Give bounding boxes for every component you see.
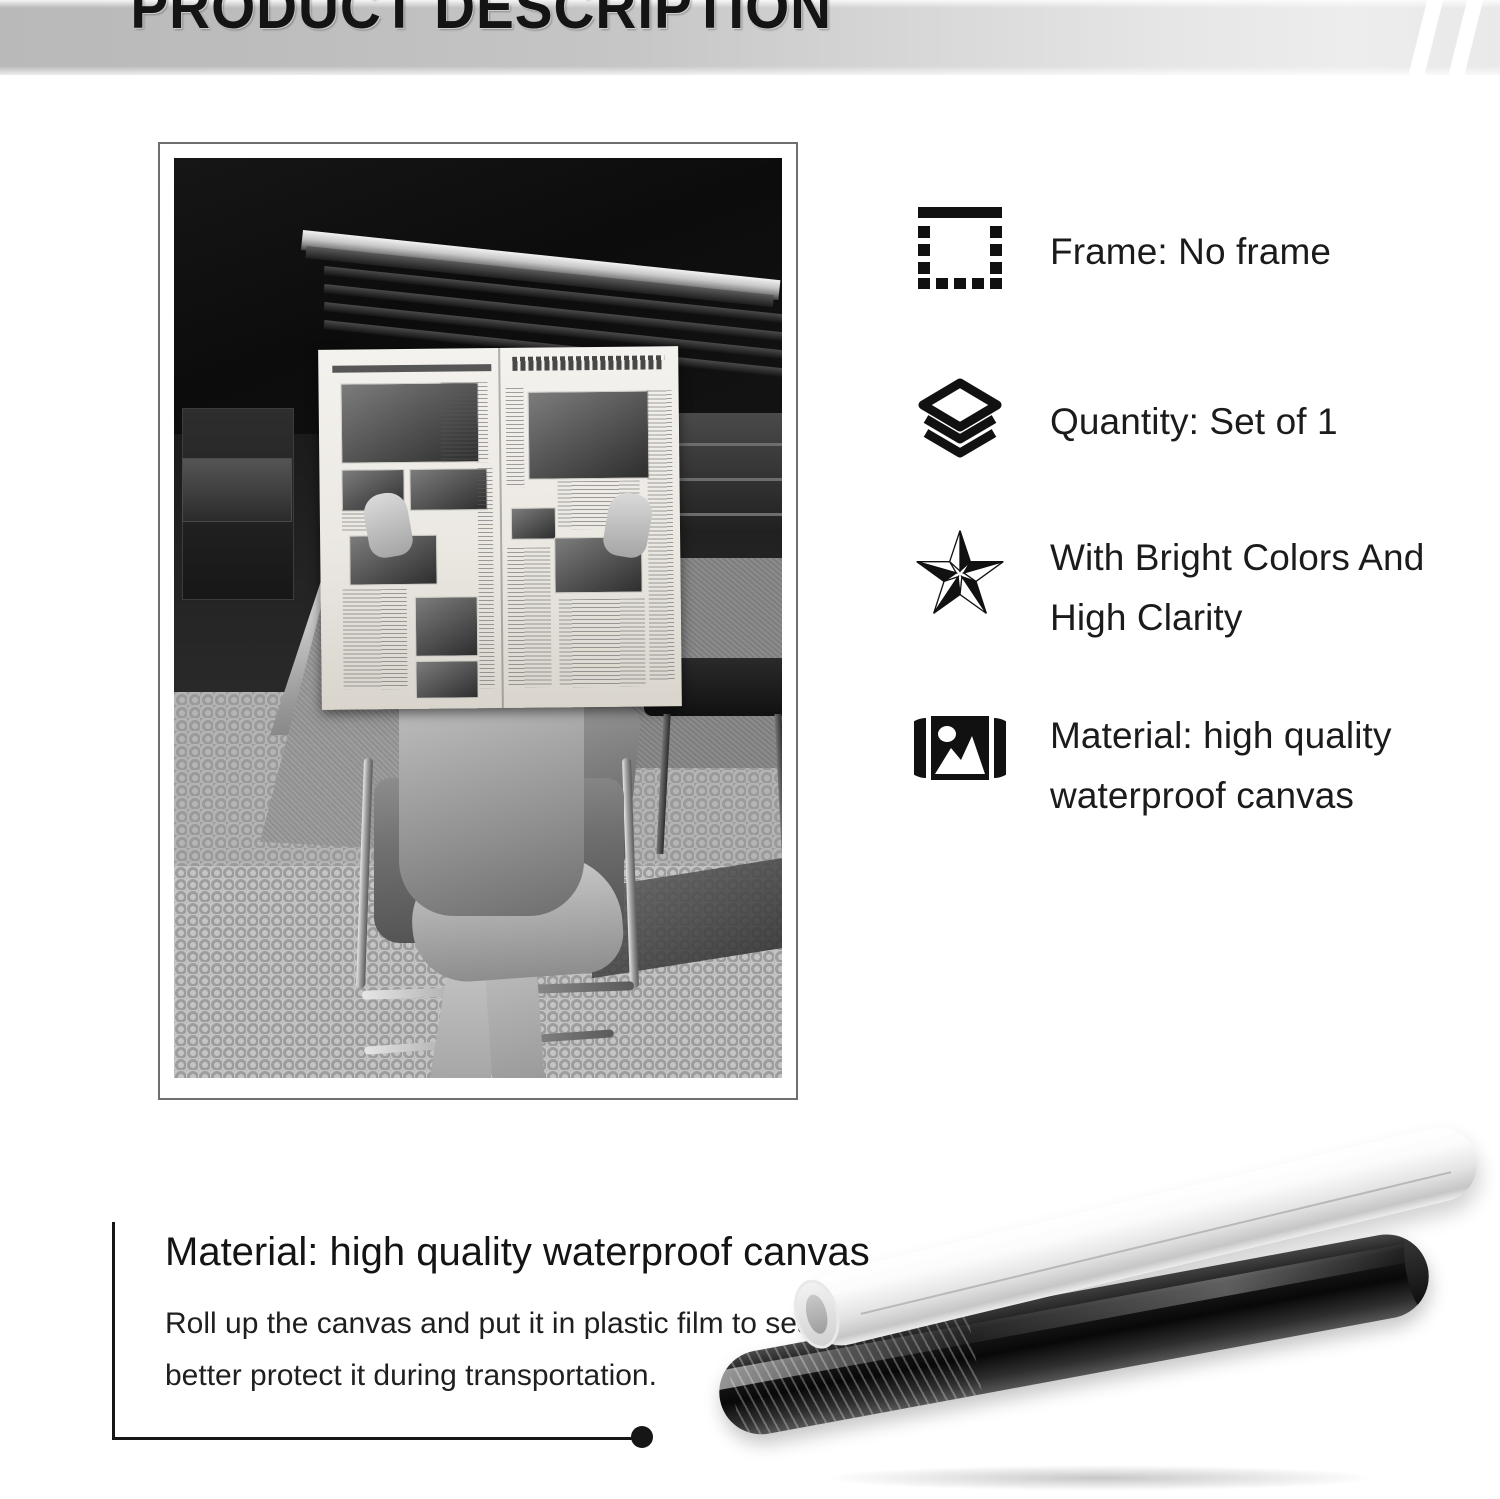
feature-item-quantity: Quantity: Set of 1 bbox=[912, 370, 1472, 466]
image-picture-icon bbox=[912, 700, 1008, 796]
newspaper-photo bbox=[409, 468, 487, 511]
roll-shadow bbox=[820, 1465, 1380, 1491]
newspaper-photo bbox=[414, 596, 478, 657]
newspaper-fold bbox=[498, 348, 504, 708]
header-banner: PRODUCT DESCRIPTION bbox=[0, 0, 1500, 75]
roll-end-cap bbox=[1399, 1227, 1436, 1314]
layers-stack-icon bbox=[912, 370, 1008, 466]
canvas-roll-illustration bbox=[700, 1240, 1500, 1499]
product-photo bbox=[174, 158, 782, 1078]
feature-label: With Bright Colors And High Clarity bbox=[1050, 524, 1472, 648]
product-image-frame bbox=[158, 142, 798, 1100]
newspaper-column bbox=[342, 589, 408, 690]
newspaper-column bbox=[506, 388, 525, 488]
newspaper-photo bbox=[527, 390, 649, 479]
banner-slash-icon bbox=[1440, 0, 1488, 75]
feature-item-material: Material: high quality waterproof canvas bbox=[912, 700, 1472, 826]
newspaper-column bbox=[478, 468, 495, 688]
frame-dashed-icon bbox=[912, 200, 1008, 296]
page-title: PRODUCT DESCRIPTION bbox=[104, 7, 858, 68]
newspaper-column bbox=[507, 547, 552, 687]
banner-slash-icon bbox=[1400, 0, 1448, 75]
star-icon bbox=[912, 524, 1008, 620]
newspaper-photo bbox=[415, 660, 479, 699]
feature-label: Frame: No frame bbox=[1050, 200, 1331, 282]
newspaper-photo bbox=[511, 507, 557, 539]
feature-item-quality: With Bright Colors And High Clarity bbox=[912, 524, 1472, 648]
bracket-dot-icon bbox=[631, 1426, 653, 1448]
feature-item-frame: Frame: No frame bbox=[912, 200, 1472, 296]
feature-label: Quantity: Set of 1 bbox=[1050, 370, 1338, 452]
newspaper-column bbox=[558, 598, 645, 687]
newspaper-headline bbox=[333, 364, 491, 373]
newspaper-column bbox=[441, 382, 489, 462]
photo-oven bbox=[182, 458, 292, 522]
newspaper-column bbox=[646, 390, 674, 680]
newspaper-masthead bbox=[513, 355, 664, 371]
feature-label: Material: high quality waterproof canvas bbox=[1050, 700, 1472, 826]
roll-open-end bbox=[787, 1275, 846, 1353]
page-title-text: PRODUCT DESCRIPTION bbox=[130, 0, 832, 38]
feature-list: Frame: No frame Quantity: Set of 1 bbox=[912, 200, 1472, 826]
